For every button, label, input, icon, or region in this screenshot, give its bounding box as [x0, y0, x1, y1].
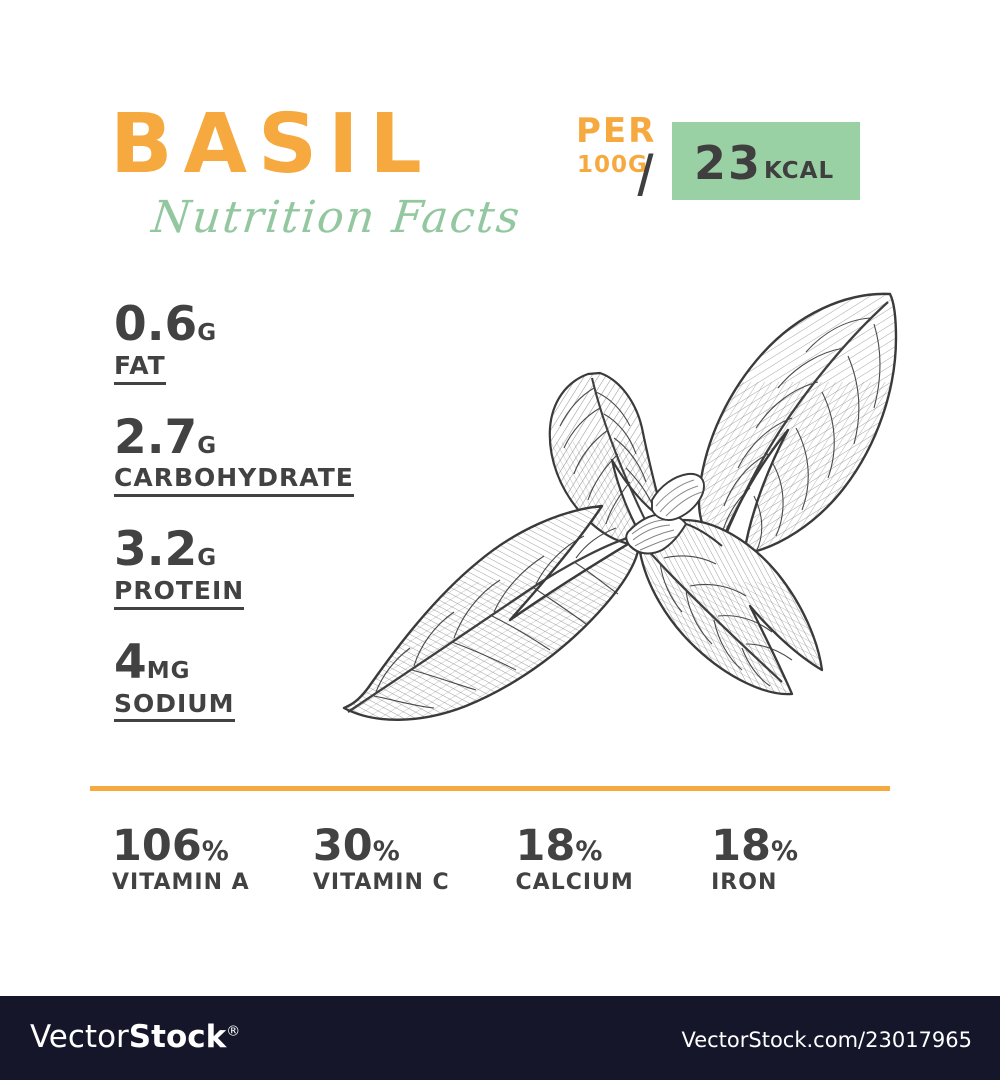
vectorstock-logo: VectorStock®: [30, 1022, 240, 1053]
macro-unit: MG: [147, 658, 191, 684]
per-label: PER: [576, 114, 656, 148]
vitamin-label: VITAMIN C: [313, 870, 516, 896]
basil-illustration: [330, 262, 930, 762]
vitamin-item-iron: 18% IRON: [711, 824, 912, 897]
section-divider: [90, 786, 890, 791]
vitamin-value: 18%: [516, 824, 712, 869]
logo-bold: Stock: [129, 1019, 226, 1055]
registered-mark-icon: ®: [226, 1024, 240, 1040]
vitamin-label: CALCIUM: [516, 870, 712, 896]
vitamin-list: 106% VITAMIN A 30% VITAMIN C 18% CALCIUM…: [112, 824, 912, 897]
per-serving-badge: PER 100G / 23 KCAL: [576, 114, 876, 206]
slash-separator: /: [637, 148, 653, 200]
macro-number: 2.7: [114, 410, 197, 465]
macro-label: CARBOHYDRATE: [114, 464, 354, 497]
vitamin-value: 18%: [711, 824, 912, 869]
kcal-unit-label: KCAL: [764, 160, 834, 183]
vitamin-item-calcium: 18% CALCIUM: [516, 824, 712, 897]
vitamin-item-vitamin-a: 106% VITAMIN A: [112, 824, 313, 897]
page-title: BASIL: [110, 104, 433, 186]
vitamin-unit: %: [373, 836, 400, 867]
leaf-lower-left: [338, 498, 648, 730]
vitamin-value: 30%: [313, 824, 516, 869]
logo-prefix: Vector: [30, 1019, 129, 1055]
vitamin-number: 18: [711, 821, 771, 871]
vitamin-unit: %: [202, 836, 229, 867]
macro-number: 0.6: [114, 297, 197, 352]
vitamin-label: IRON: [711, 870, 912, 896]
macro-unit: G: [197, 320, 217, 346]
infographic-page: BASIL Nutrition Facts PER 100G / 23 KCAL…: [0, 0, 1000, 1080]
macro-unit: G: [197, 545, 217, 571]
vitamin-label: VITAMIN A: [112, 870, 313, 896]
watermark-url: VectorStock.com/23017965: [681, 1030, 972, 1051]
macro-label: FAT: [114, 352, 166, 385]
vitamin-number: 106: [112, 821, 202, 871]
vitamin-value: 106%: [112, 824, 313, 869]
macro-number: 4: [114, 635, 147, 690]
macro-label: PROTEIN: [114, 577, 244, 610]
kcal-value: 23: [694, 140, 762, 186]
macro-label: SODIUM: [114, 690, 235, 723]
vitamin-number: 18: [516, 821, 576, 871]
vitamin-unit: %: [575, 836, 602, 867]
macro-number: 3.2: [114, 522, 197, 577]
vitamin-item-vitamin-c: 30% VITAMIN C: [313, 824, 516, 897]
page-subtitle: Nutrition Facts: [150, 196, 523, 240]
vitamin-unit: %: [771, 836, 798, 867]
macro-unit: G: [197, 433, 217, 459]
vitamin-number: 30: [313, 821, 373, 871]
basil-leaves: [338, 282, 910, 730]
watermark-footer: VectorStock® VectorStock.com/23017965: [0, 996, 1000, 1080]
